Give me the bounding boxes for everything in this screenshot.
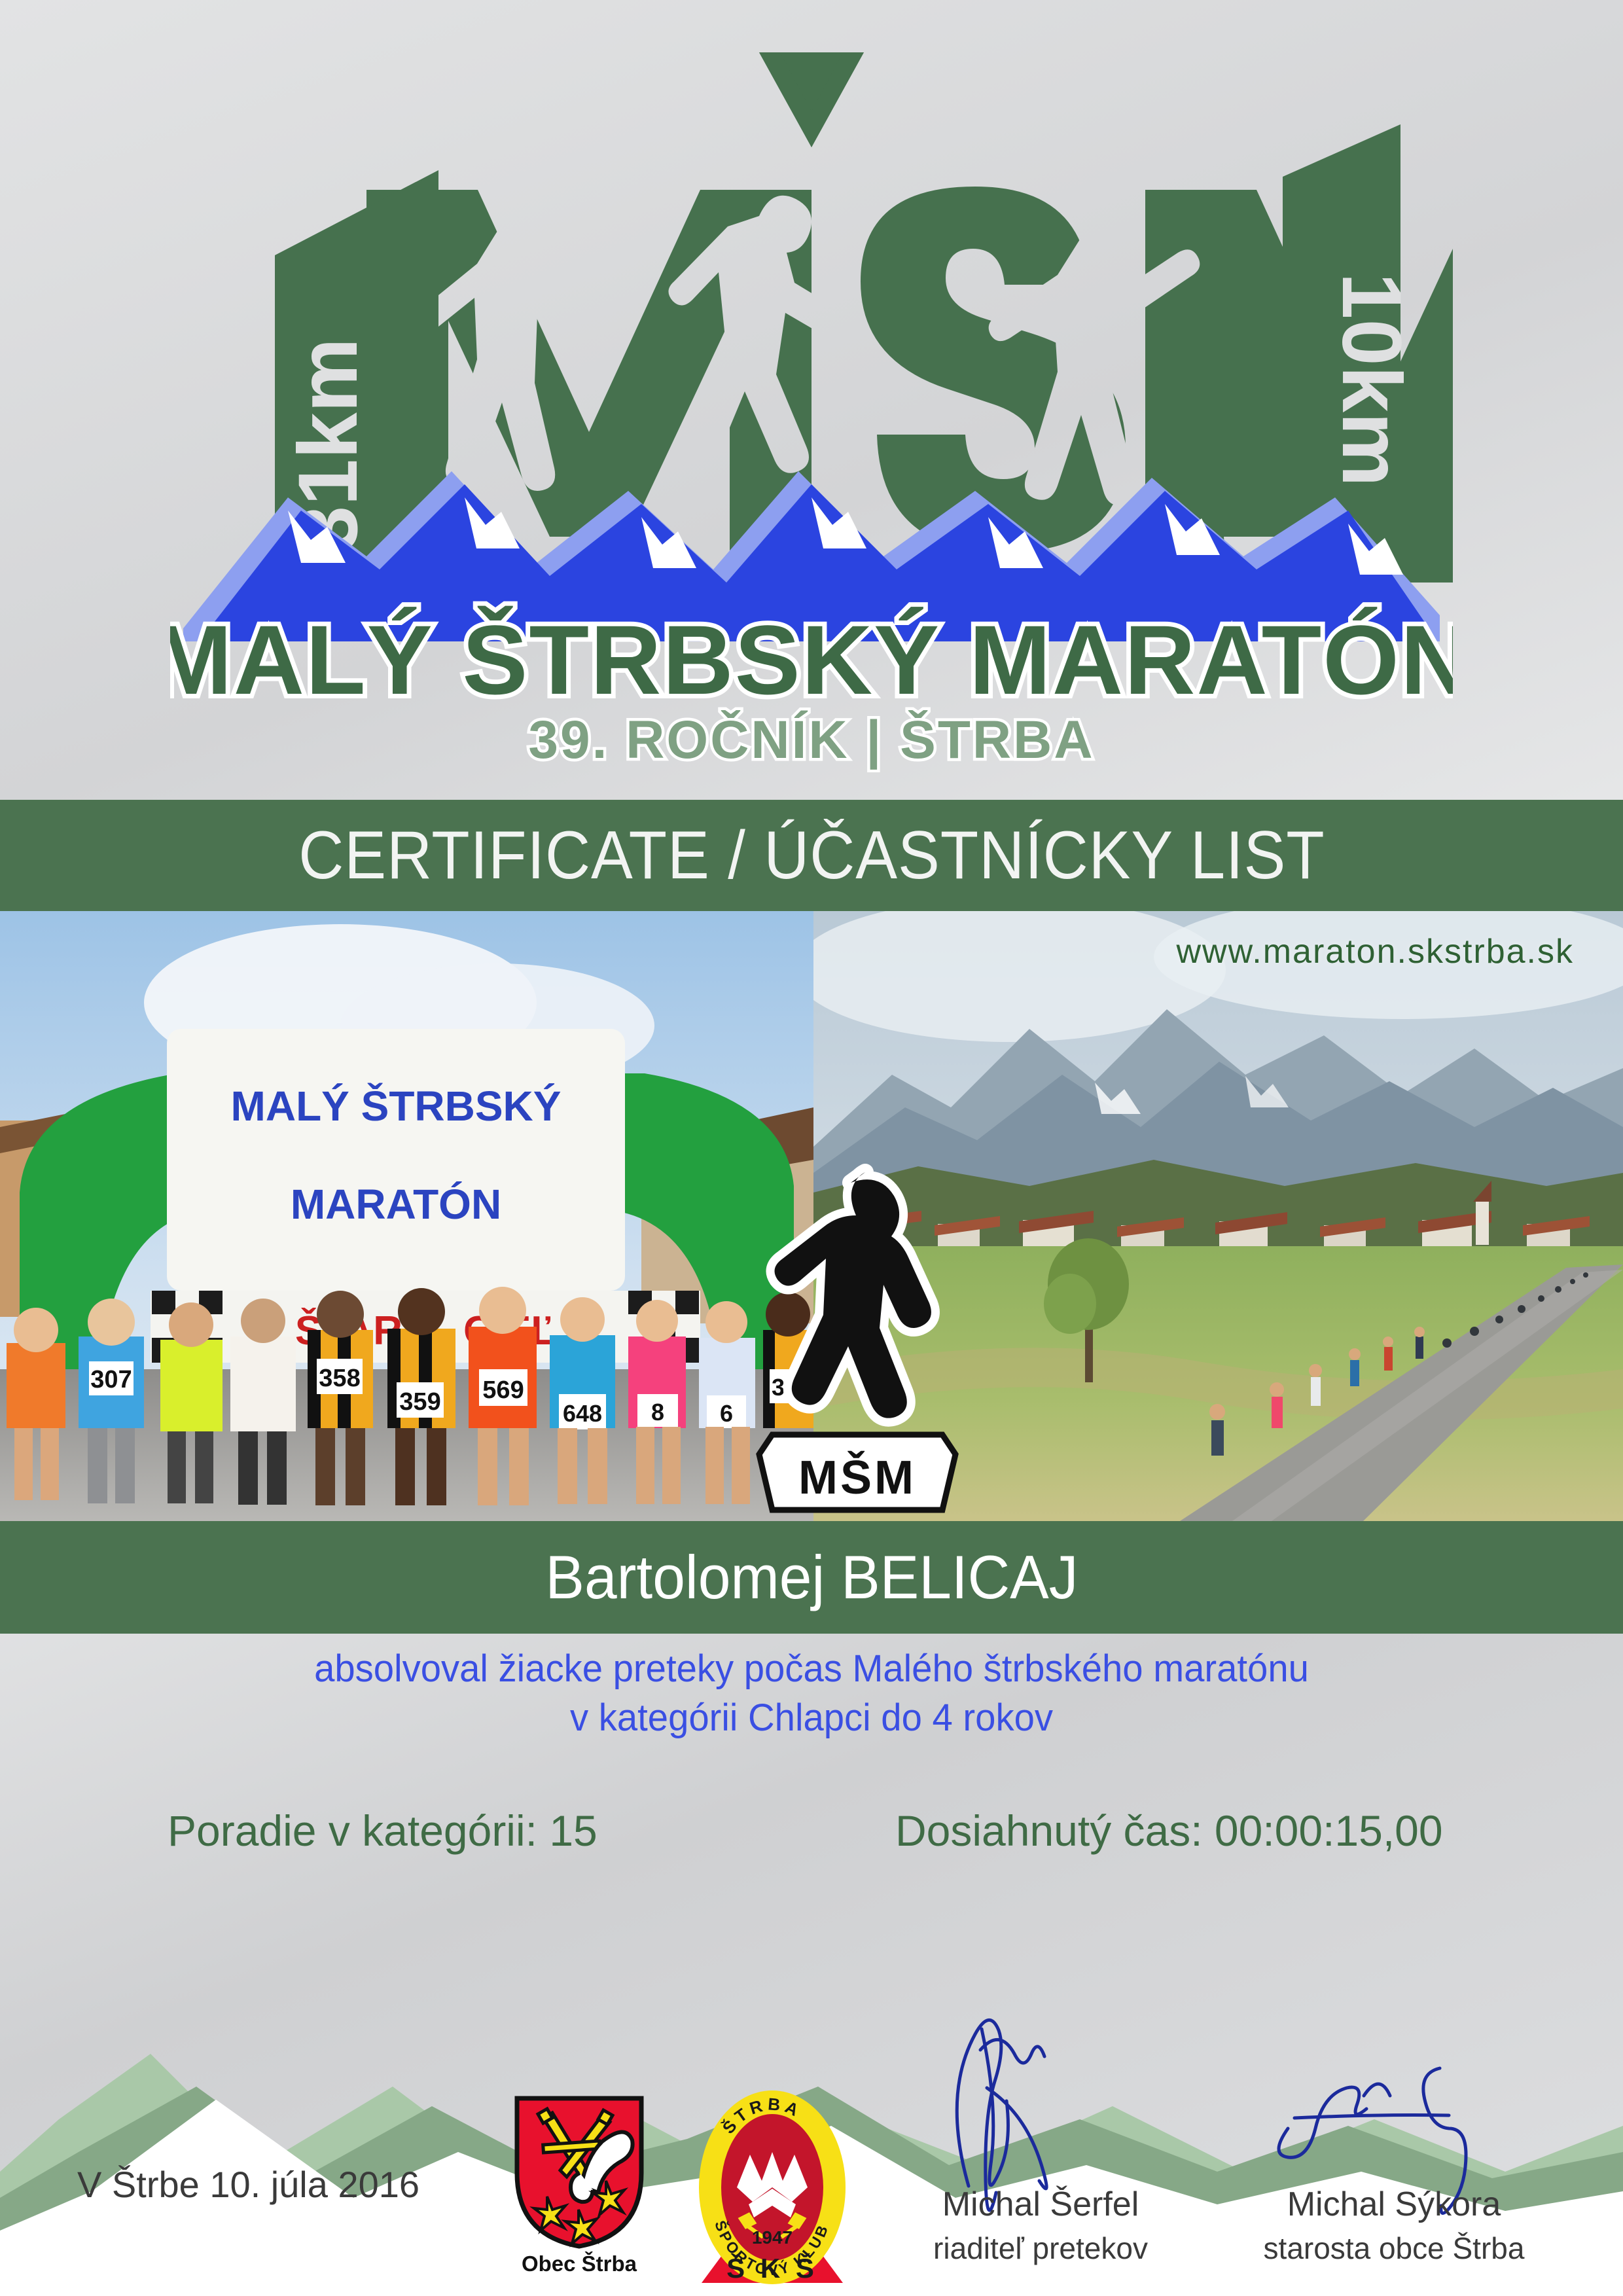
logo-right-distance: 10km bbox=[1325, 272, 1418, 486]
obec-strba-emblem: Obec Štrba bbox=[504, 2094, 654, 2284]
bib-number: 569 bbox=[482, 1376, 524, 1404]
rank-value: 15 bbox=[549, 1806, 597, 1855]
sks-year: 1947 bbox=[752, 2227, 793, 2248]
certificate-title-band: CERTIFICATE / ÚČASTNÍCKY LIST bbox=[0, 800, 1623, 911]
signature-mark-serfel bbox=[870, 1990, 1211, 2206]
signature-mark-sykora bbox=[1224, 1990, 1564, 2206]
signature-role: starosta obce Štrba bbox=[1224, 2231, 1564, 2266]
obec-strba-caption: Obec Štrba bbox=[504, 2251, 654, 2276]
sks-club-logo: 1947 ŠTRBA ŠPORTOVÝ KLUB Š K Š bbox=[694, 2089, 851, 2286]
logo-title: MALÝ ŠTRBSKÝ MARATÓN bbox=[170, 605, 1453, 715]
rank-label: Poradie v kategórii: bbox=[168, 1806, 537, 1855]
sticker-text: MŠM bbox=[798, 1451, 916, 1504]
bib-number: 8 bbox=[651, 1399, 664, 1426]
signature-name: Michal Šerfel bbox=[870, 2185, 1211, 2224]
website-url[interactable]: www.maraton.skstrba.sk bbox=[1177, 932, 1575, 971]
sks-club-emblem: 1947 ŠTRBA ŠPORTOVÝ KLUB Š K Š bbox=[694, 2089, 851, 2286]
time-label: Dosiahnutý čas: bbox=[895, 1806, 1203, 1855]
bib-number: 6 bbox=[720, 1400, 733, 1427]
certificate-page: 31km 10km MALÝ ŠT bbox=[0, 0, 1623, 2296]
issue-date: V Štrbe 10. júla 2016 bbox=[77, 2163, 419, 2206]
sks-bottom-label: Š K Š bbox=[726, 2252, 818, 2284]
arch-line-2: MARATÓN bbox=[291, 1181, 501, 1228]
signature-block-director: Michal Šerfel riaditeľ pretekov bbox=[870, 2088, 1211, 2291]
event-logo-block: 31km 10km MALÝ ŠT bbox=[0, 0, 1623, 795]
bib-number: 358 bbox=[319, 1365, 360, 1392]
msm-logo-graphic: 31km 10km MALÝ ŠT bbox=[170, 39, 1453, 772]
arch-line-1: MALÝ ŠTRBSKÝ bbox=[231, 1082, 562, 1130]
photo-strip: MALÝ ŠTRBSKÝ MARATÓN ŠTART - CIEĽ bbox=[0, 911, 1623, 1521]
bib-number: 359 bbox=[399, 1388, 440, 1416]
msm-logo: 31km 10km MALÝ ŠT bbox=[170, 39, 1453, 772]
msm-runner-sticker: MŠM bbox=[733, 1157, 982, 1521]
description-line-2: v kategórii Chlapci do 4 rokov bbox=[24, 1693, 1599, 1742]
achieved-time: Dosiahnutý čas: 00:00:15,00 bbox=[895, 1806, 1443, 1856]
participant-description: absolvoval žiacke preteky počas Malého š… bbox=[24, 1644, 1599, 1743]
signature-role: riaditeľ pretekov bbox=[870, 2231, 1211, 2266]
signature-name: Michal Sýkora bbox=[1224, 2185, 1564, 2224]
rank-in-category: Poradie v kategórii: 15 bbox=[168, 1806, 597, 1856]
obec-strba-coat-of-arms bbox=[504, 2094, 654, 2251]
bib-number: 648 bbox=[563, 1400, 602, 1427]
certificate-footer: V Štrbe 10. júla 2016 bbox=[0, 2088, 1623, 2296]
participant-name-band: Bartolomej BELICAJ bbox=[0, 1521, 1623, 1634]
result-row: Poradie v kategórii: 15 Dosiahnutý čas: … bbox=[0, 1795, 1623, 1867]
signature-block-mayor: Michal Sýkora starosta obce Štrba bbox=[1224, 2088, 1564, 2291]
bib-number: 307 bbox=[90, 1366, 132, 1393]
race-start-illustration: MALÝ ŠTRBSKÝ MARATÓN ŠTART - CIEĽ bbox=[0, 911, 813, 1521]
certificate-title: CERTIFICATE / ÚČASTNÍCKY LIST bbox=[298, 817, 1325, 895]
description-line-1: absolvoval žiacke preteky počas Malého š… bbox=[24, 1644, 1599, 1693]
race-start-photo: MALÝ ŠTRBSKÝ MARATÓN ŠTART - CIEĽ bbox=[0, 911, 813, 1521]
participant-name: Bartolomej BELICAJ bbox=[545, 1542, 1078, 1613]
time-value: 00:00:15,00 bbox=[1215, 1806, 1443, 1855]
logo-subtitle: 39. ROČNÍK | ŠTRBA bbox=[528, 710, 1094, 770]
